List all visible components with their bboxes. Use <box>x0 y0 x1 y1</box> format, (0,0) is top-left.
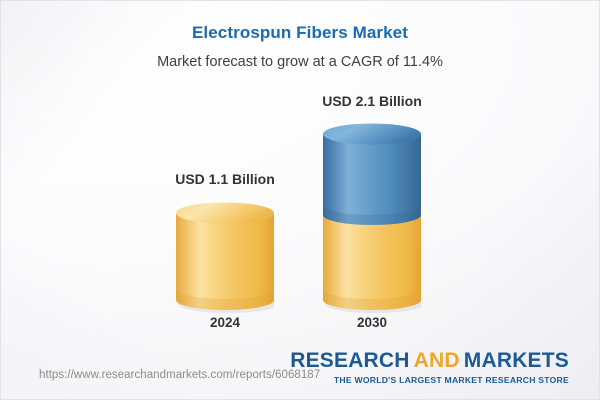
footer: https://www.researchandmarkets.com/repor… <box>1 344 599 399</box>
bar-cylinder-2024 <box>176 1 274 346</box>
bar-group-2030: USD 2.1 Billion <box>323 1 421 346</box>
brand-wordmark: RESEARCHANDMARKETS <box>290 350 569 371</box>
bar-category-label-2030: 2030 <box>357 315 387 330</box>
research-and-markets-logo[interactable]: RESEARCHANDMARKETS THE WORLD'S LARGEST M… <box>290 350 569 385</box>
bar-cylinder-2030 <box>323 1 421 346</box>
brand-word-and: AND <box>414 349 460 372</box>
report-url[interactable]: https://www.researchandmarkets.com/repor… <box>39 369 320 381</box>
chart-plot-area: USD 1.1 Billion <box>1 1 600 346</box>
bar-category-label-2024: 2024 <box>210 315 240 330</box>
brand-word-research: RESEARCH <box>290 349 409 372</box>
market-forecast-infographic: Electrospun Fibers Market Market forecas… <box>0 0 600 400</box>
brand-word-markets: MARKETS <box>464 349 569 372</box>
bar-group-2024: USD 1.1 Billion <box>176 1 274 346</box>
brand-tagline: THE WORLD'S LARGEST MARKET RESEARCH STOR… <box>290 376 569 385</box>
